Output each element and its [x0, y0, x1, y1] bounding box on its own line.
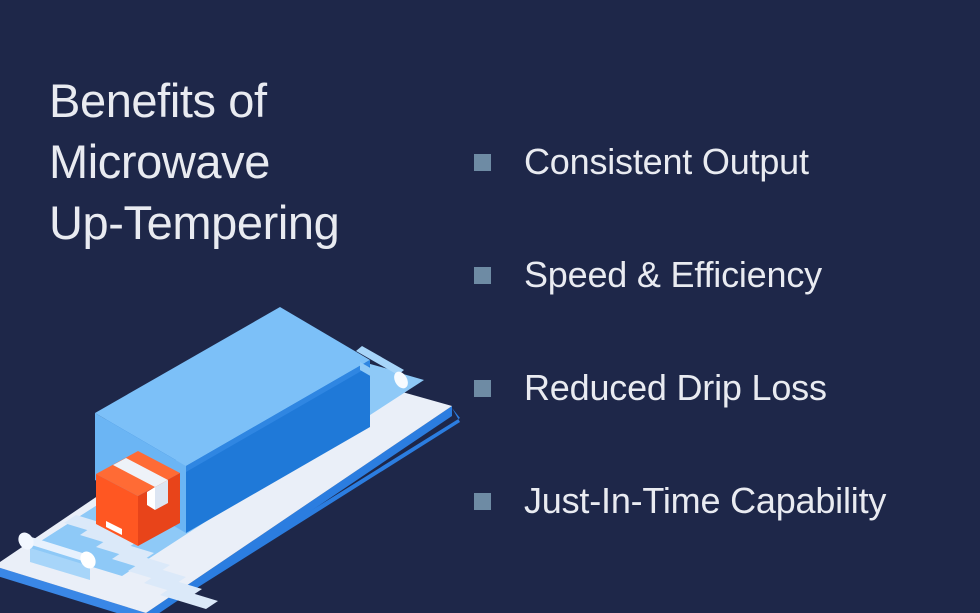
list-item: Just-In-Time Capability — [474, 481, 974, 594]
page-title: Benefits of Microwave Up-Tempering — [49, 70, 469, 253]
isometric-oven-svg — [0, 290, 470, 613]
benefit-label: Just-In-Time Capability — [524, 481, 886, 521]
microwave-tunnel-illustration — [0, 290, 470, 613]
square-bullet-icon — [474, 493, 491, 510]
slide-canvas: Benefits of Microwave Up-Tempering Consi… — [0, 0, 980, 613]
title-line-3: Up-Tempering — [49, 192, 469, 253]
square-bullet-icon — [474, 380, 491, 397]
list-item: Speed & Efficiency — [474, 255, 974, 368]
benefits-list: Consistent Output Speed & Efficiency Red… — [474, 142, 974, 594]
square-bullet-icon — [474, 267, 491, 284]
square-bullet-icon — [474, 154, 491, 171]
title-line-1: Benefits of — [49, 70, 469, 131]
benefit-label: Consistent Output — [524, 142, 809, 182]
title-line-2: Microwave — [49, 131, 469, 192]
benefit-label: Speed & Efficiency — [524, 255, 822, 295]
benefit-label: Reduced Drip Loss — [524, 368, 827, 408]
list-item: Reduced Drip Loss — [474, 368, 974, 481]
list-item: Consistent Output — [474, 142, 974, 255]
